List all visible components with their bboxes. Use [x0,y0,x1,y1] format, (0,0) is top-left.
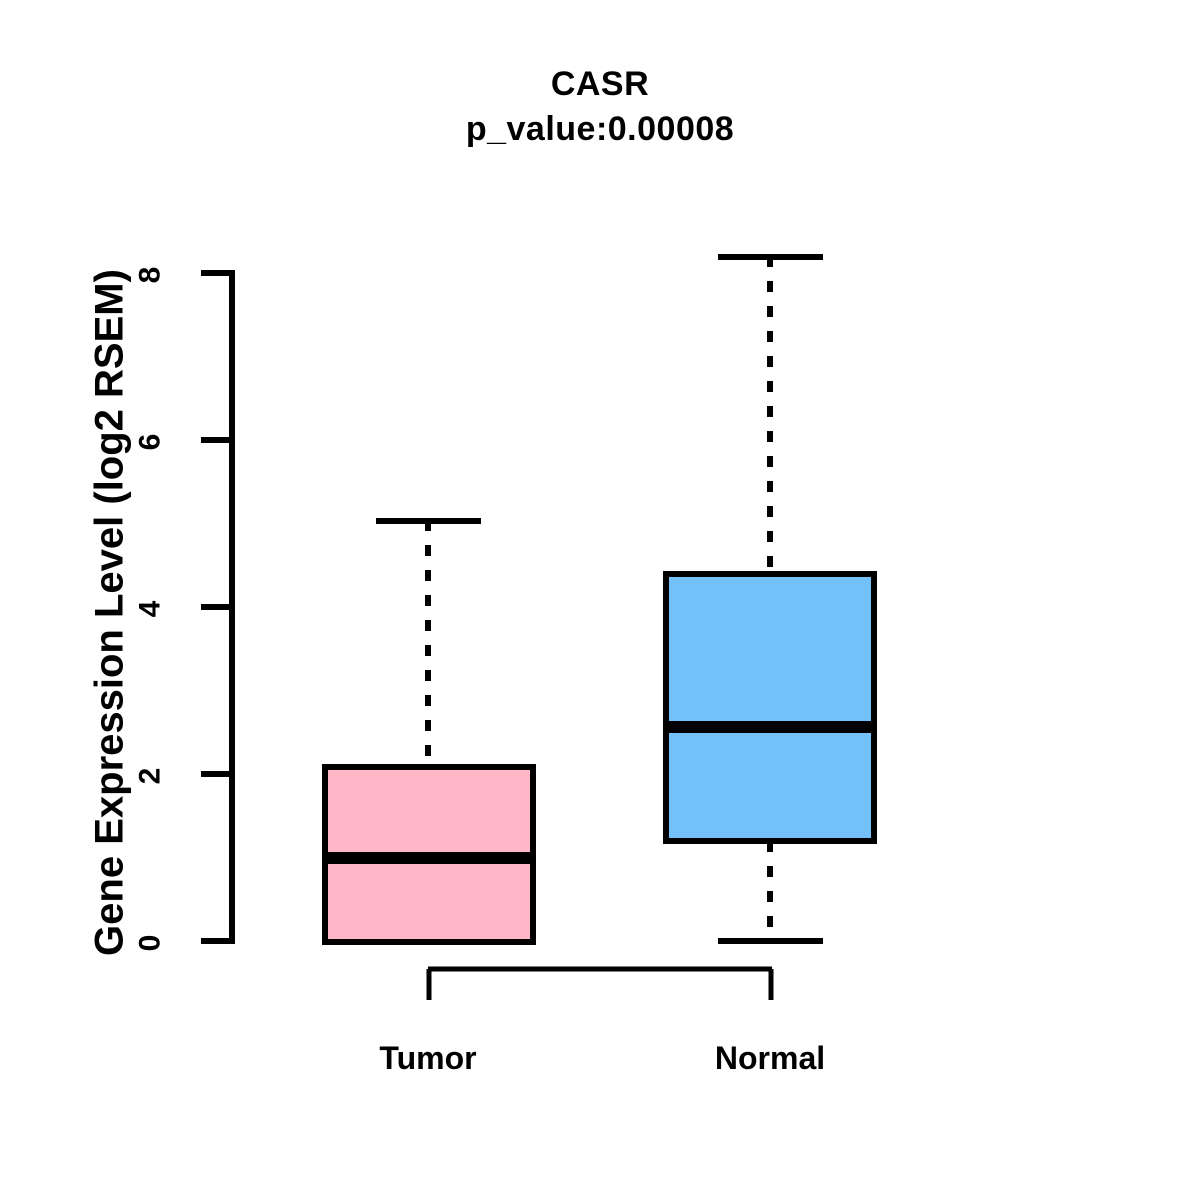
normal-box-rect [666,574,874,841]
plot-canvas [0,0,1200,1200]
box-tumor [322,520,536,942]
x-axis [428,969,772,1000]
y-axis [201,271,235,943]
x-tick-label-normal: Normal [715,1040,825,1077]
boxplot-figure: CASR p_value:0.00008 Gene Expression Lev… [0,0,1200,1200]
box-normal [663,256,877,941]
x-tick-label-tumor: Tumor [379,1040,476,1077]
